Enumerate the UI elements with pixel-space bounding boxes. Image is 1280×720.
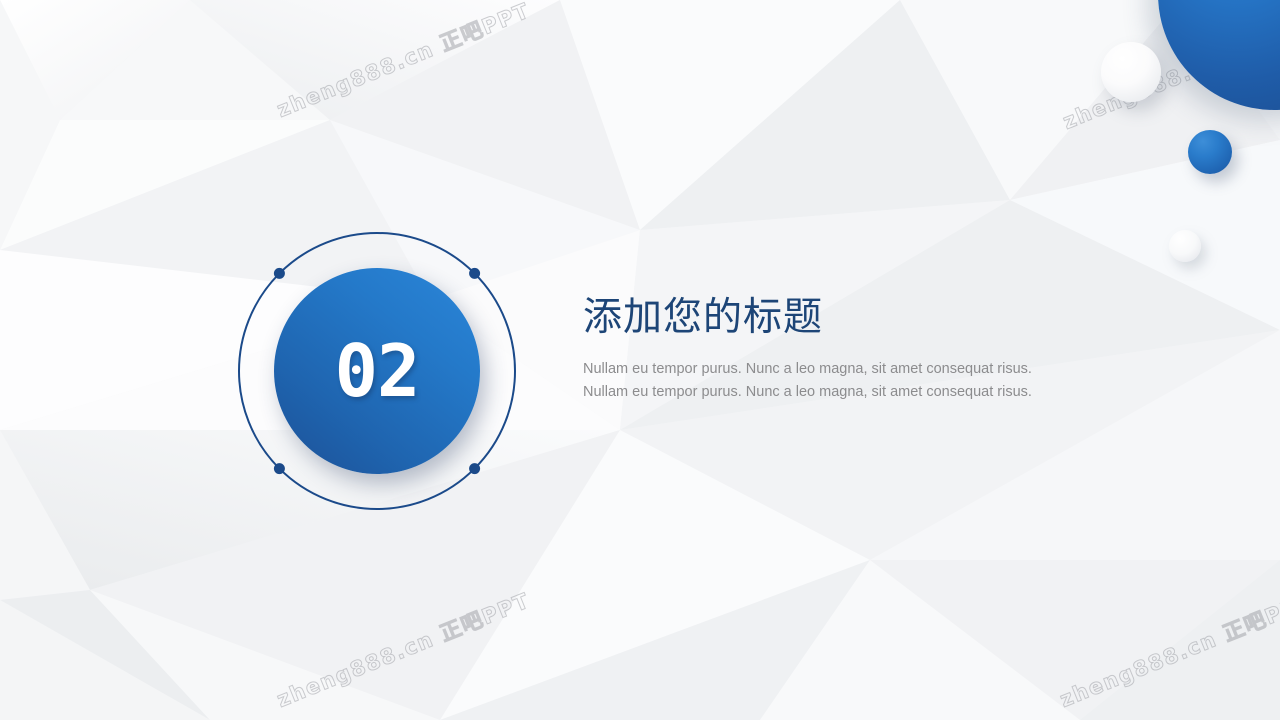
white-sphere-large [1101, 42, 1161, 102]
text-block: 添加您的标题 Nullam eu tempor purus. Nunc a le… [583, 296, 1053, 405]
slide-canvas: zheng888.cn 正吧PPT zheng888.cn 正吧PPT zhen… [0, 0, 1280, 720]
number-badge: 02 [237, 231, 517, 511]
page-title: 添加您的标题 [583, 296, 1053, 341]
body-paragraph: Nullam eu tempor purus. Nunc a leo magna… [583, 341, 1038, 405]
badge-number: 02 [274, 268, 480, 474]
badge-disc: 02 [274, 268, 480, 474]
blue-sphere-small [1188, 130, 1232, 174]
white-sphere-small [1169, 230, 1201, 262]
